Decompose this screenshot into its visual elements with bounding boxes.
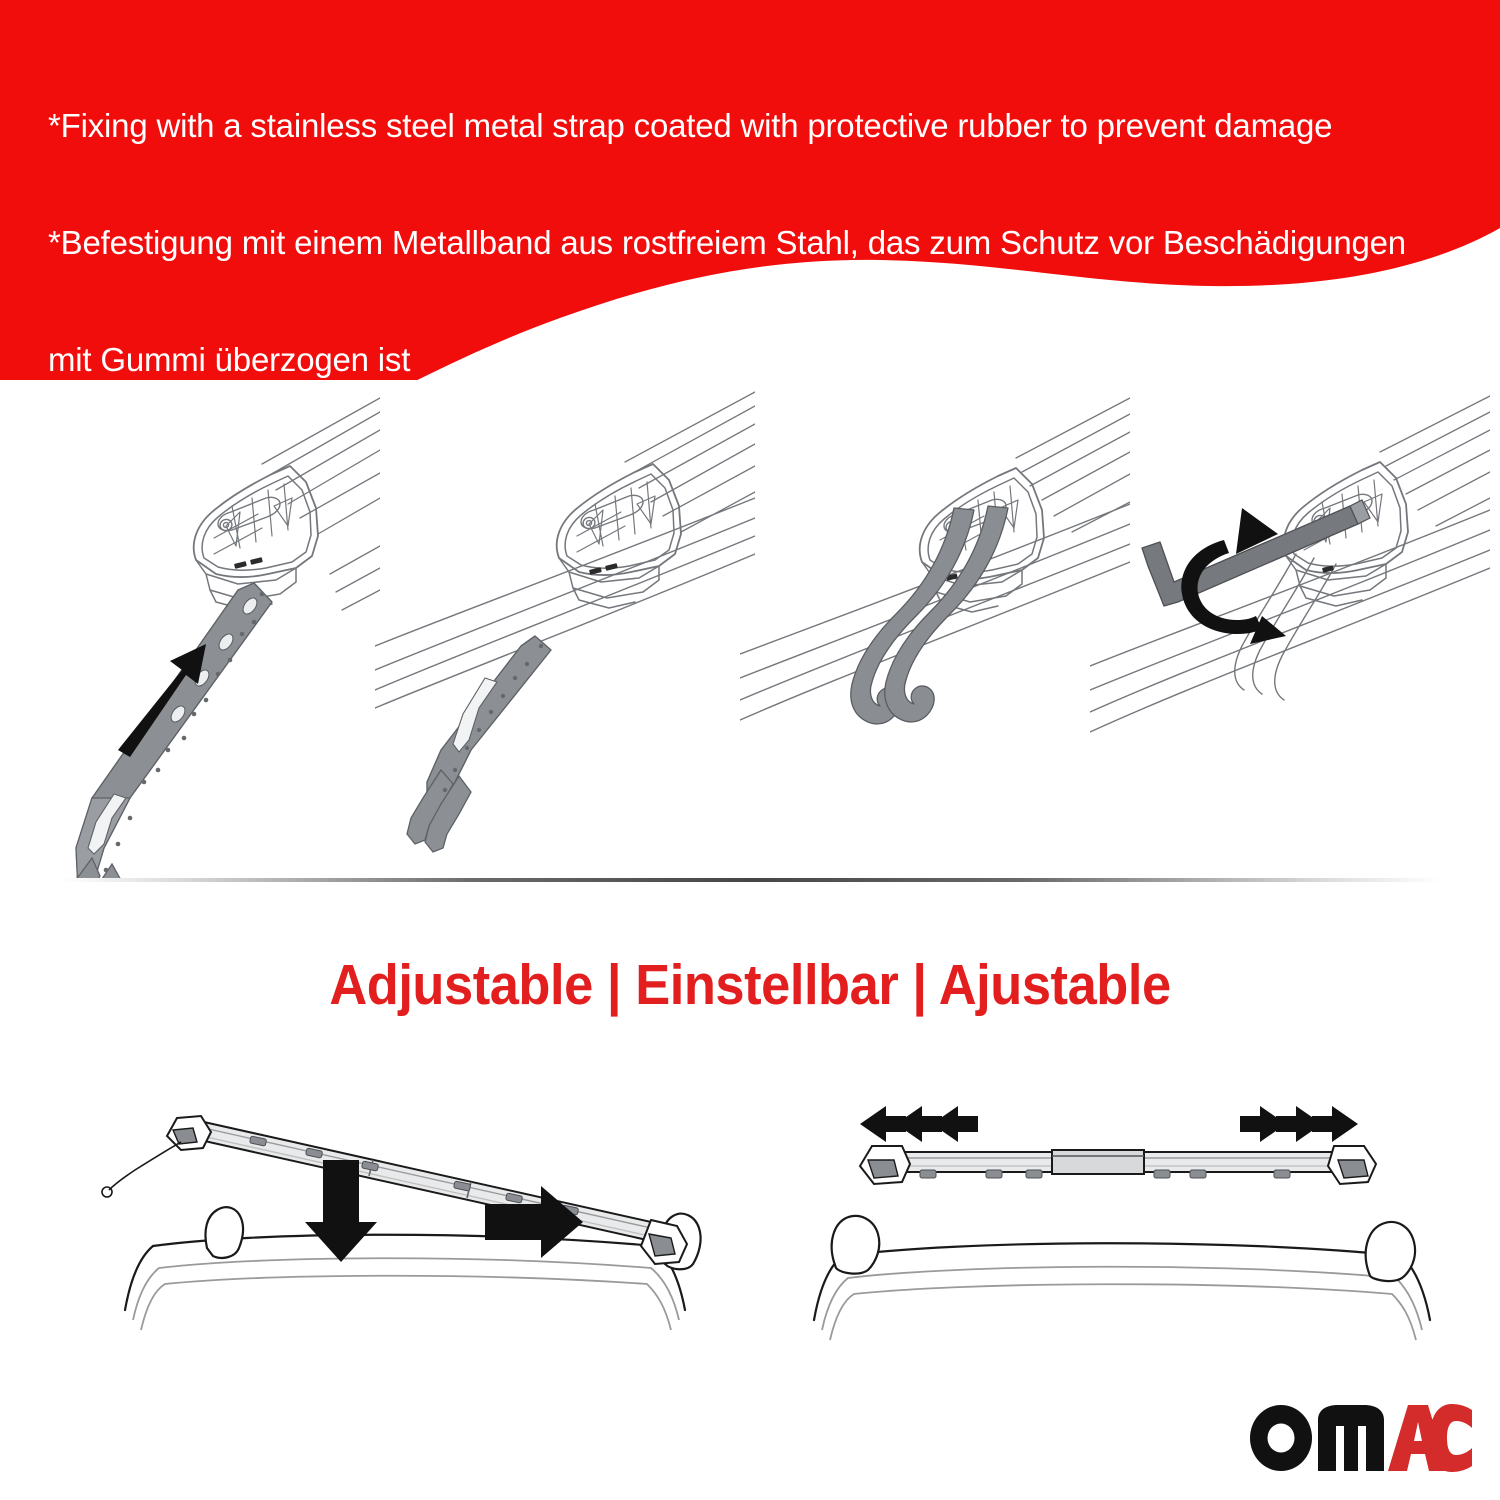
roof-rail-lines bbox=[375, 498, 755, 708]
step-4-illustration bbox=[1090, 378, 1490, 878]
triple-right-arrow bbox=[1240, 1106, 1358, 1142]
banner-line-3: mit Gummi überzogen ist bbox=[48, 340, 1468, 379]
adjustable-heading: Adjustable | Einstellbar | Ajustable bbox=[60, 952, 1440, 1018]
roof-rail-lines bbox=[330, 546, 380, 610]
bottom-right-illustration bbox=[790, 1080, 1470, 1400]
crossbar-width-adjust-diagram bbox=[790, 1080, 1470, 1400]
step-panel-tighten-with-allen-key bbox=[1090, 378, 1465, 878]
triple-left-arrow bbox=[860, 1106, 978, 1142]
roof-rail-left bbox=[832, 1216, 880, 1274]
step-2-illustration bbox=[375, 378, 755, 878]
foot-label-marking bbox=[589, 563, 618, 575]
roof-rail-left bbox=[205, 1207, 243, 1258]
omac-logo-mark bbox=[1248, 1404, 1472, 1472]
logo-letter-c bbox=[1430, 1404, 1472, 1472]
roof-rail-right bbox=[1366, 1222, 1415, 1281]
bottom-diagram-row bbox=[0, 1080, 1500, 1400]
metal-strap bbox=[50, 583, 272, 878]
foot-label-marking bbox=[234, 557, 263, 569]
product-infographic-page: *Fixing with a stainless steel metal str… bbox=[0, 0, 1500, 1500]
logo-letter-o bbox=[1250, 1405, 1312, 1471]
allen-key-tool bbox=[1142, 500, 1370, 606]
banner-line-2: *Befestigung mit einem Metallband aus ro… bbox=[48, 223, 1468, 262]
omac-logo bbox=[1248, 1404, 1472, 1472]
step-3-illustration bbox=[740, 378, 1130, 878]
installation-steps bbox=[0, 378, 1500, 878]
crossbar-lines bbox=[1380, 396, 1490, 526]
banner-line-1: *Fixing with a stainless steel metal str… bbox=[48, 106, 1468, 145]
logo-letter-m bbox=[1318, 1405, 1384, 1471]
section-divider bbox=[60, 878, 1440, 882]
bottom-left-illustration bbox=[55, 1080, 765, 1400]
step-panel-insert-metal-strap bbox=[0, 378, 375, 878]
step-panel-position-foot-on-rail bbox=[375, 378, 750, 878]
crossbar-assembly bbox=[860, 1146, 1376, 1184]
crossbar-placement-diagram bbox=[55, 1080, 765, 1400]
step-panel-wrap-strap-around-rail bbox=[740, 378, 1115, 878]
header-banner: *Fixing with a stainless steel metal str… bbox=[0, 0, 1500, 380]
step-1-illustration bbox=[0, 378, 380, 878]
crossbar-lines bbox=[625, 392, 755, 532]
